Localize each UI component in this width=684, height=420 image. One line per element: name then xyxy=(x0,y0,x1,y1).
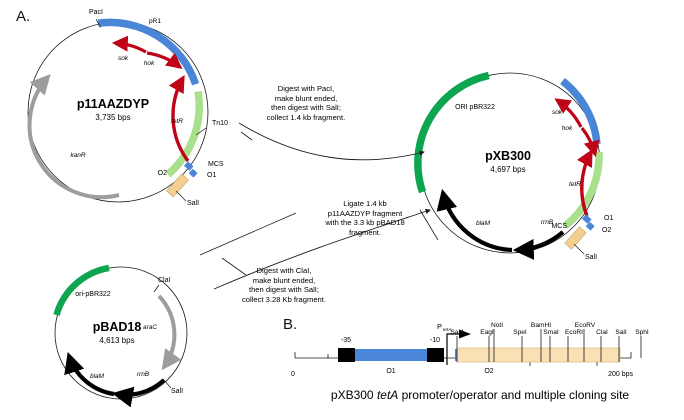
site-label-spei: SpeI xyxy=(513,329,527,336)
instruction-digest-clai: Digest with ClaI, make blunt ended, then… xyxy=(216,266,352,304)
element-label-o1: O1 xyxy=(386,368,395,375)
promoter-label: P xyxy=(437,322,442,331)
site-label-smai: SmaI xyxy=(543,329,559,336)
instruction-line: fragment. xyxy=(300,228,430,238)
element-label-minus35: -35 xyxy=(341,337,351,344)
instruction-line: Digest with ClaI, xyxy=(216,266,352,276)
leader-digest-paci xyxy=(241,132,252,140)
site-label-ecori: EcoRI xyxy=(565,329,583,336)
instruction-line: collect 3.28 Kb fragment. xyxy=(216,295,352,305)
figure-canvas: A. PacI pR1 so xyxy=(0,0,684,420)
site-label-eagi: EagI xyxy=(480,329,494,336)
instruction-line: make blunt ended, xyxy=(216,276,352,286)
instruction-line: then digest with SalI; xyxy=(240,103,372,113)
instruction-line: collect 1.4 kb fragment. xyxy=(240,113,372,123)
instruction-line: make blunt ended, xyxy=(240,94,372,104)
element-label-o2: O2 xyxy=(484,368,493,375)
site-label-noti: NotI xyxy=(491,322,503,329)
site-label-saci: SacI xyxy=(450,329,463,336)
leader-ligate-left xyxy=(200,213,296,255)
arrow-p11-to-pxb300 xyxy=(239,123,424,160)
element-box-o1 xyxy=(355,349,427,361)
caption-suffix: promoter/operator and multiple cloning s… xyxy=(398,388,629,402)
site-label-sali: SalI xyxy=(615,329,627,336)
instruction-line: Ligate 1.4 kb xyxy=(300,199,430,209)
element-box-minus35 xyxy=(338,348,355,362)
instruction-line: with the 3.3 kb pBAD18 xyxy=(300,218,430,228)
linear-map-pxb300-mcs: -35 O1 -10 P tetA O2 xyxy=(275,318,684,388)
site-label-sphi: SphI xyxy=(635,329,649,336)
element-label-minus10: -10 xyxy=(430,337,440,344)
caption-italic-gene: tetA xyxy=(377,388,398,402)
instruction-line: p11AAZDYP fragment xyxy=(300,209,430,219)
element-box-minus10 xyxy=(427,348,444,362)
instruction-ligate: Ligate 1.4 kb p11AAZDYP fragment with th… xyxy=(300,199,430,237)
site-label-bamhi: BamHI xyxy=(531,322,551,329)
caption-prefix: pXB300 xyxy=(331,388,377,402)
axis-label-start: 0 xyxy=(291,371,295,378)
site-label-clai: ClaI xyxy=(596,329,608,336)
site-label-ecorv: EcoRV xyxy=(575,322,596,329)
panel-b-caption: pXB300 tetA promoter/operator and multip… xyxy=(284,388,676,402)
instruction-digest-paci: Digest with PacI, make blunt ended, then… xyxy=(240,84,372,122)
instruction-line: then digest with SalI; xyxy=(216,285,352,295)
axis-label-end: 200 bps xyxy=(608,371,633,378)
instruction-line: Digest with PacI, xyxy=(240,84,372,94)
mcs-band xyxy=(457,348,620,362)
